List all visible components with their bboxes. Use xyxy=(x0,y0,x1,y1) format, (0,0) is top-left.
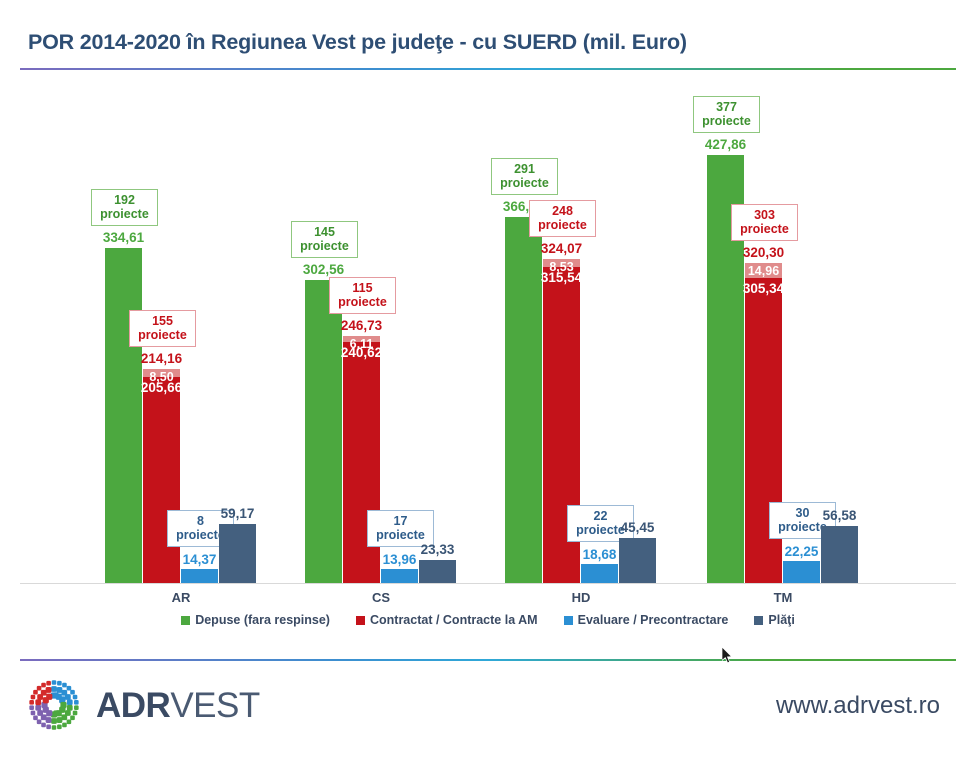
chart-legend: Depuse (fara respinse)Contractat / Contr… xyxy=(0,613,976,627)
legend-swatch-icon xyxy=(356,616,365,625)
callout-unit: proiecte xyxy=(499,176,550,190)
bar-sub-segment-tm: 14,96 xyxy=(745,263,782,278)
category-label-cs: CS xyxy=(305,590,457,605)
legend-item-1[interactable]: Contractat / Contracte la AM xyxy=(356,613,538,627)
chart-area: 334,61192proiecte8,50205,66214,16155proi… xyxy=(0,78,976,638)
callout-count: 248 xyxy=(537,204,588,218)
mouse-cursor xyxy=(722,647,734,665)
callout-unit: proiecte xyxy=(337,295,388,309)
bar-tm-series3[interactable] xyxy=(821,526,858,583)
value-label-hd-series1: 324,07 xyxy=(531,241,592,256)
footer-divider xyxy=(20,659,956,661)
callout-unit: proiecte xyxy=(739,222,790,236)
callout-tm-series0: 377proiecte xyxy=(693,96,760,133)
legend-swatch-icon xyxy=(754,616,763,625)
value-label-ar-series0: 334,61 xyxy=(93,230,154,245)
legend-item-0[interactable]: Depuse (fara respinse) xyxy=(181,613,330,627)
page-title: POR 2014-2020 în Regiunea Vest pe judeţe… xyxy=(28,30,687,55)
chart-plot: 334,61192proiecte8,50205,66214,16155proi… xyxy=(0,78,976,583)
legend-label: Plăţi xyxy=(768,613,794,627)
bar-tm-series2[interactable] xyxy=(783,561,820,583)
callout-ar-series1: 155proiecte xyxy=(129,310,196,347)
callout-hd-series0: 291proiecte xyxy=(491,158,558,195)
callout-unit: proiecte xyxy=(299,239,350,253)
bar-sub-segment-ar: 8,50 xyxy=(143,369,180,378)
legend-swatch-icon xyxy=(181,616,190,625)
axis-baseline xyxy=(20,583,956,584)
value-label-tm-series3: 56,58 xyxy=(809,508,870,523)
callout-count: 291 xyxy=(499,162,550,176)
value-label-cs-series3: 23,33 xyxy=(407,542,468,557)
value-label-tm-series1: 320,30 xyxy=(733,245,794,260)
callout-count: 303 xyxy=(739,208,790,222)
callout-count: 192 xyxy=(99,193,150,207)
callout-unit: proiecte xyxy=(701,114,752,128)
callout-count: 155 xyxy=(137,314,188,328)
callout-count: 115 xyxy=(337,281,388,295)
bar-cs-series3[interactable] xyxy=(419,560,456,583)
bar-base-value-label: 240,62 xyxy=(333,345,390,360)
bar-ar-series2[interactable] xyxy=(181,569,218,583)
legend-label: Evaluare / Precontractare xyxy=(578,613,729,627)
bar-ar-series3[interactable] xyxy=(219,524,256,583)
value-label-tm-series0: 427,86 xyxy=(695,137,756,152)
legend-label: Contractat / Contracte la AM xyxy=(370,613,538,627)
adrvest-logo-text: ADRVEST xyxy=(96,688,260,723)
callout-count: 17 xyxy=(375,514,426,528)
bar-hd-series2[interactable] xyxy=(581,564,618,583)
value-label-cs-series1: 246,73 xyxy=(331,318,392,333)
bar-sub-segment-cs: 6,11 xyxy=(343,336,380,342)
legend-label: Depuse (fara respinse) xyxy=(195,613,330,627)
value-label-ar-series3: 59,17 xyxy=(207,506,268,521)
footer: ADRVEST www.adrvest.ro xyxy=(0,650,976,763)
logo-text-light: VEST xyxy=(170,686,259,725)
value-label-cs-series0: 302,56 xyxy=(293,262,354,277)
title-block: POR 2014-2020 în Regiunea Vest pe judeţe… xyxy=(0,0,976,74)
value-label-ar-series1: 214,16 xyxy=(131,351,192,366)
logo-text-bold: ADR xyxy=(96,686,170,725)
bar-hd-series3[interactable] xyxy=(619,538,656,583)
callout-cs-series1: 115proiecte xyxy=(329,277,396,314)
title-divider xyxy=(20,68,956,70)
bar-ar-series0[interactable] xyxy=(105,248,142,583)
callout-hd-series1: 248proiecte xyxy=(529,200,596,237)
bar-group-hd: 366,39291proiecte8,53315,54324,07248proi… xyxy=(505,78,657,583)
bar-base-value-label: 205,66 xyxy=(133,380,190,395)
callout-cs-series0: 145proiecte xyxy=(291,221,358,258)
callout-ar-series0: 192proiecte xyxy=(91,189,158,226)
callout-tm-series1: 303proiecte xyxy=(731,204,798,241)
bar-group-cs: 302,56145proiecte6,11240,62246,73115proi… xyxy=(305,78,457,583)
bar-base-value-label: 315,54 xyxy=(533,270,590,285)
callout-unit: proiecte xyxy=(99,207,150,221)
callout-count: 377 xyxy=(701,100,752,114)
bar-group-tm: 427,86377proiecte14,96305,34320,30303pro… xyxy=(707,78,859,583)
callout-count: 145 xyxy=(299,225,350,239)
bar-cs-series2[interactable] xyxy=(381,569,418,583)
category-label-tm: TM xyxy=(707,590,859,605)
legend-item-3[interactable]: Plăţi xyxy=(754,613,794,627)
bar-sub-segment-hd: 8,53 xyxy=(543,259,580,268)
legend-item-2[interactable]: Evaluare / Precontractare xyxy=(564,613,729,627)
adrvest-logo-mark xyxy=(26,676,82,734)
legend-swatch-icon xyxy=(564,616,573,625)
value-label-hd-series3: 45,45 xyxy=(607,520,668,535)
site-url: www.adrvest.ro xyxy=(776,692,940,720)
bar-sub-value-label: 14,96 xyxy=(745,264,782,278)
category-label-hd: HD xyxy=(505,590,657,605)
callout-unit: proiecte xyxy=(375,528,426,542)
callout-unit: proiecte xyxy=(137,328,188,342)
bar-base-value-label: 305,34 xyxy=(735,281,792,296)
category-label-ar: AR xyxy=(105,590,257,605)
bar-group-ar: 334,61192proiecte8,50205,66214,16155proi… xyxy=(105,78,257,583)
adrvest-logo: ADRVEST xyxy=(26,676,260,734)
callout-unit: proiecte xyxy=(537,218,588,232)
